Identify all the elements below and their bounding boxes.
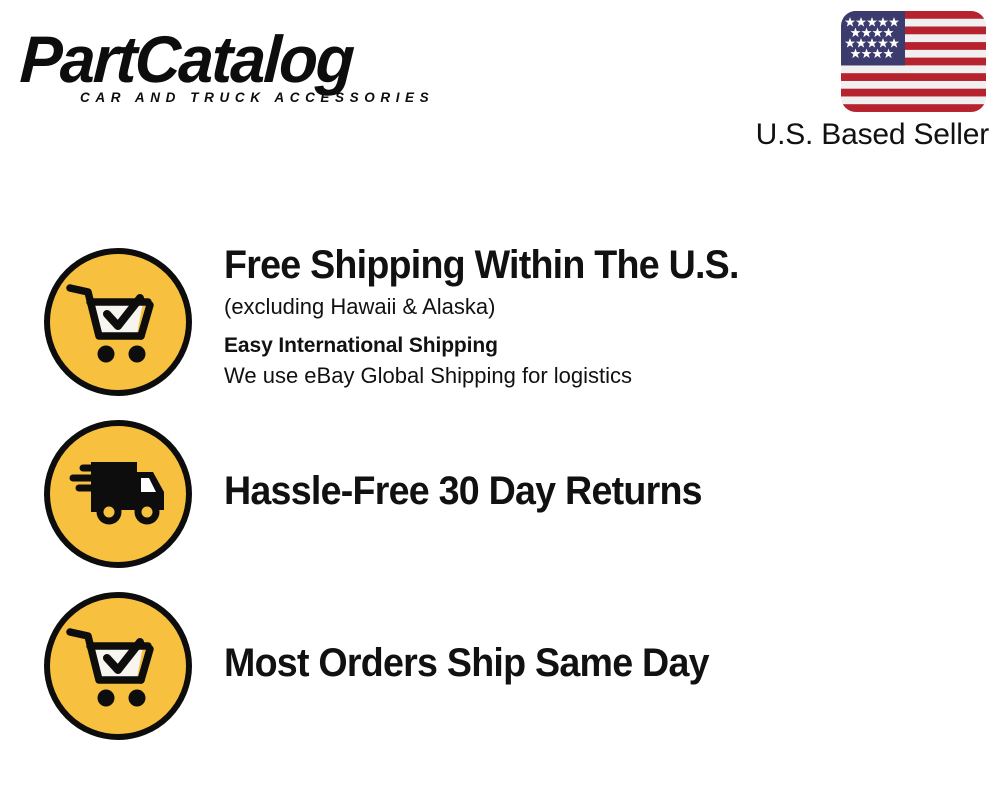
feature-text-block: Hassle-Free 30 Day Returns: [224, 468, 964, 514]
feature-subtext-group: (excluding Hawaii & Alaska) Easy Interna…: [224, 292, 964, 391]
feature-exclusion-note: (excluding Hawaii & Alaska): [224, 292, 964, 322]
feature-title: Most Orders Ship Same Day: [224, 640, 920, 686]
feature-international-detail: We use eBay Global Shipping for logistic…: [224, 361, 964, 391]
us-flag-icon: [841, 11, 986, 112]
delivery-truck-icon: [44, 420, 192, 568]
brand-wordmark: PartCatalog: [18, 24, 482, 94]
us-based-seller-label: U.S. Based Seller: [727, 118, 989, 152]
feature-international-heading: Easy International Shipping: [224, 331, 964, 361]
feature-text-block: Most Orders Ship Same Day: [224, 640, 964, 686]
feature-text-block: Free Shipping Within The U.S. (excluding…: [224, 248, 964, 391]
feature-title: Free Shipping Within The U.S.: [224, 242, 920, 288]
shipping-info-banner: PartCatalog CAR AND TRUCK ACCESSORIES: [0, 0, 1000, 800]
shopping-cart-check-icon: [44, 592, 192, 740]
shopping-cart-check-icon: [44, 248, 192, 396]
feature-title: Hassle-Free 30 Day Returns: [224, 468, 920, 514]
brand-logo: PartCatalog CAR AND TRUCK ACCESSORIES: [22, 24, 502, 114]
